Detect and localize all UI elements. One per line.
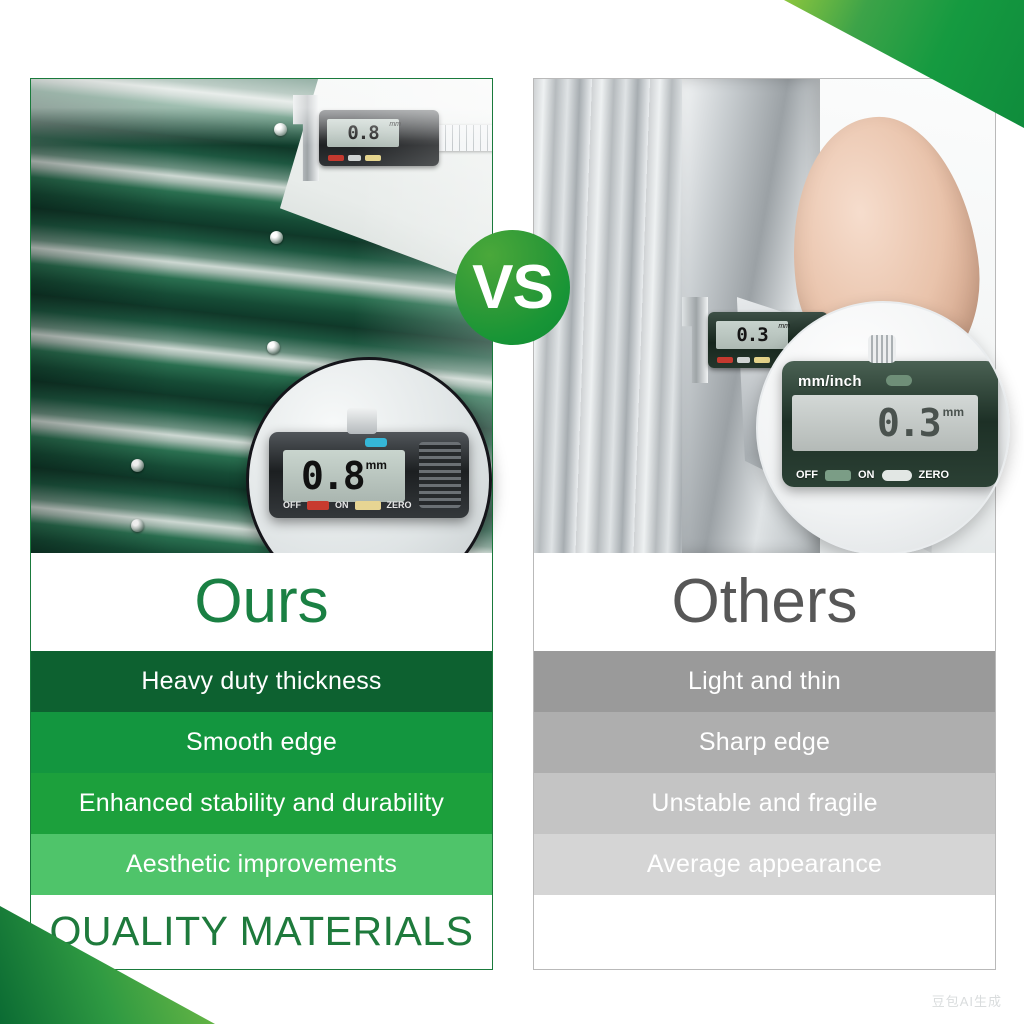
caliper-zero-button-icon <box>754 357 770 363</box>
vs-badge: VS <box>455 230 570 345</box>
caliper-off-label: OFF <box>283 500 301 510</box>
others-magnifier-callout: mm/inch 0.3 mm OFF ON ZERO <box>756 301 1010 555</box>
caliper-unit: mm <box>943 405 964 419</box>
caliper-control-row: OFF ON ZERO <box>283 500 412 510</box>
caliper-knob-icon <box>868 335 896 363</box>
caliper-value: 0.8 <box>347 122 378 144</box>
caliper-off-switch-icon <box>348 155 361 161</box>
caliper-on-label: ON <box>335 500 349 510</box>
caliper-zero-button-icon <box>355 501 381 510</box>
caliper-unit: mm <box>366 458 387 472</box>
list-item: Aesthetic improvements <box>31 834 492 895</box>
feature-label: Sharp edge <box>699 728 830 757</box>
caliper-led-icon <box>365 438 387 447</box>
caliper-magnified-others: mm/inch 0.3 mm OFF ON ZERO <box>782 361 998 487</box>
caliper-on-label: ON <box>858 469 875 481</box>
others-footer <box>534 895 995 968</box>
caliper-display: 0.3 mm <box>716 321 788 349</box>
feature-label: Average appearance <box>647 850 882 879</box>
caliper-value: 0.3 <box>877 401 940 445</box>
feature-label: Light and thin <box>688 667 841 696</box>
list-item: Smooth edge <box>31 712 492 773</box>
list-item: Sharp edge <box>534 712 995 773</box>
ours-feature-list: Heavy duty thickness Smooth edge Enhance… <box>31 651 492 895</box>
feature-label: Smooth edge <box>186 728 337 757</box>
watermark: 豆包AI生成 <box>932 991 1002 1010</box>
caliper-jaw-icon <box>682 297 708 383</box>
caliper-mode-button-icon <box>886 375 912 386</box>
caliper-display: 0.3 mm <box>792 395 978 451</box>
caliper-off-switch-icon <box>737 357 750 363</box>
caliper-buttons <box>328 155 381 161</box>
others-heading-label: Others <box>671 571 857 633</box>
others-feature-list: Light and thin Sharp edge Unstable and f… <box>534 651 995 895</box>
caliper-zero-button-icon <box>882 470 912 481</box>
list-item: Light and thin <box>534 651 995 712</box>
feature-label: Enhanced stability and durability <box>79 789 444 818</box>
feature-label: Heavy duty thickness <box>141 667 381 696</box>
rivet <box>270 231 283 244</box>
comparison-infographic: 0.8 mm 0.8 mm <box>0 0 1024 1024</box>
feature-label: Aesthetic improvements <box>126 850 397 879</box>
caliper-body: 0.8 mm <box>319 110 439 166</box>
caliper-grip-icon <box>419 442 461 508</box>
caliper-on-switch-icon <box>328 155 344 161</box>
ours-footer-label: QUALITY MATERIALS <box>50 908 474 955</box>
caliper-value: 0.8 <box>301 454 364 498</box>
caliper-off-label: OFF <box>796 469 818 481</box>
list-item: Unstable and fragile <box>534 773 995 834</box>
ours-footer: QUALITY MATERIALS <box>31 895 492 968</box>
caliper-unit: mm <box>389 121 401 128</box>
rivet <box>274 123 287 136</box>
caliper-zero-button-icon <box>365 155 381 161</box>
caliper-display: 0.8 mm <box>283 450 405 502</box>
caliper-power-switch-icon <box>307 501 329 510</box>
caliper-buttons <box>717 357 770 363</box>
caliper-unit: mm <box>778 323 790 330</box>
caliper-knob-icon <box>347 408 377 434</box>
feature-label: Unstable and fragile <box>651 789 877 818</box>
ours-heading-label: Ours <box>194 571 328 633</box>
caliper-value: 0.3 <box>736 324 767 346</box>
caliper-display: 0.8 mm <box>327 119 399 147</box>
caliper-small-ours: 0.8 mm <box>293 95 492 181</box>
caliper-mode-label: mm/inch <box>798 373 862 390</box>
photo-background <box>280 79 492 288</box>
rivet <box>131 459 144 472</box>
list-item: Enhanced stability and durability <box>31 773 492 834</box>
ours-panel: 0.8 mm 0.8 mm <box>30 78 493 970</box>
caliper-scale-icon <box>439 125 492 151</box>
others-panel: 0.3 mm mm/inch 0.3 <box>533 78 996 970</box>
rivet <box>131 519 144 532</box>
caliper-magnified-ours: 0.8 mm OFF ON ZERO <box>269 432 469 518</box>
caliper-zero-label: ZERO <box>387 500 412 510</box>
others-heading: Others <box>534 553 995 651</box>
caliper-jaw-icon <box>293 95 319 181</box>
list-item: Heavy duty thickness <box>31 651 492 712</box>
caliper-on-switch-icon <box>717 357 733 363</box>
caliper-control-row: OFF ON ZERO <box>796 469 949 481</box>
caliper-zero-label: ZERO <box>919 469 950 481</box>
ours-heading: Ours <box>31 553 492 651</box>
list-item: Average appearance <box>534 834 995 895</box>
rivet <box>267 341 280 354</box>
vs-label: VS <box>472 257 553 319</box>
caliper-power-switch-icon <box>825 470 851 481</box>
